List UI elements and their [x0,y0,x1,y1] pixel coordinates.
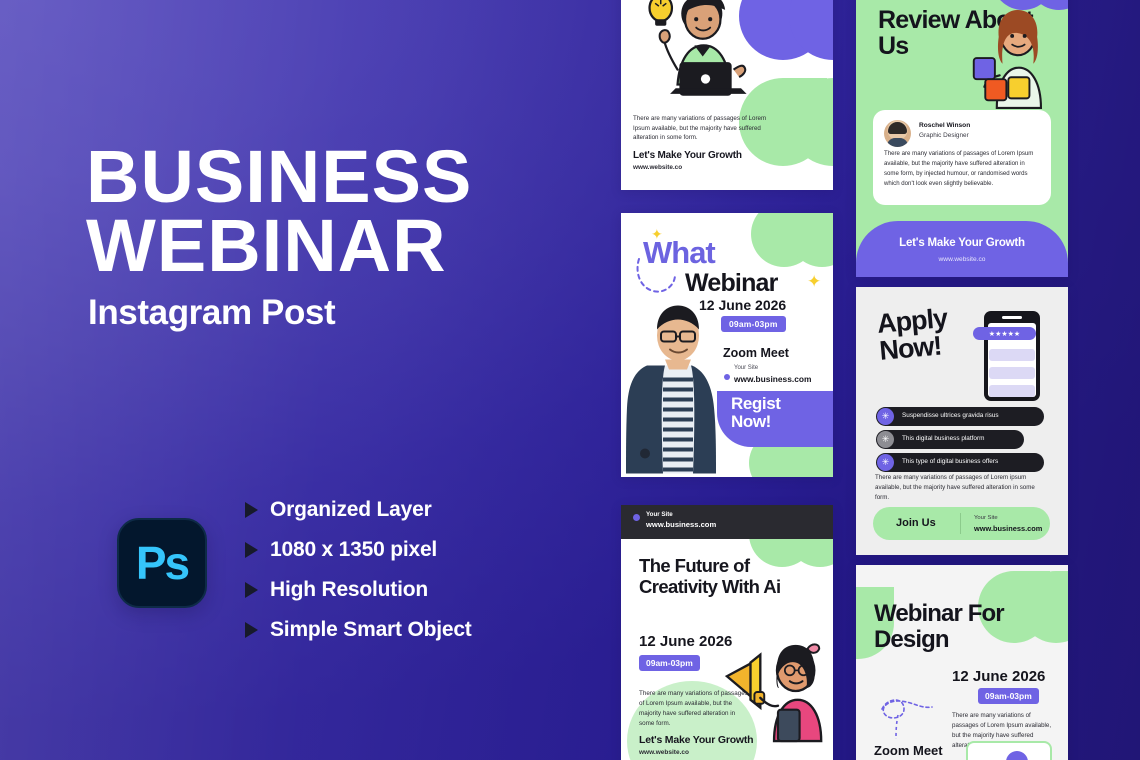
page-title: BUSINESS WEBINAR [86,143,472,281]
card-body-text: There are many variations of passages of… [875,473,1035,503]
card-future-creativity: Your Site www.business.com The Future of… [621,505,833,760]
card-webinar-for-design: Webinar For Design 12 June 2026 09am-03p… [856,565,1068,760]
card-url: www.website.co [639,749,689,756]
title-line-2: WEBINAR [86,212,472,281]
triangle-bullet-icon [245,622,258,638]
register-line-1: Regist [731,394,781,413]
card-cta-text: Let's Make Your Growth [639,734,753,746]
feature-label: Simple Smart Object [270,618,472,642]
phone-notch [1002,316,1022,319]
page-subtitle: Instagram Post [88,293,335,333]
triangle-bullet-icon [245,502,258,518]
card-review-about-us: Review About Us Roschel Winson Graphic D… [856,0,1068,277]
avatar-body [887,138,908,147]
list-item: Organized Layer [245,496,472,524]
bullet-pill: ✳ Suspendisse ultrices gravida risus [876,407,1044,426]
feature-list: Organized Layer 1080 x 1350 pixel High R… [245,496,472,656]
card-what-webinar: ✦ ✦ What Webinar 12 June 2026 09am-03pm … [621,213,833,477]
card-time-badge: 09am-03pm [978,688,1039,704]
triangle-bullet-icon [245,542,258,558]
form-field-placeholder [989,349,1035,361]
photo-presenter [625,301,735,476]
bullet-dot-icon [633,514,640,521]
register-button-label[interactable]: Regist Now! [731,395,831,431]
title-line-1: BUSINESS [86,143,472,212]
review-body-text: There are many variations of passages of… [884,149,1040,188]
card-site-label: Your Site [734,365,758,371]
star-rating-badge: ★★★★★ [973,327,1036,340]
asterisk-icon: ✳ [877,454,894,471]
illustration-man-with-idea [629,0,769,120]
bullet-pill: ✳ This digital business platform [876,430,1024,449]
avatar-hair [888,122,907,134]
card-cta-text: Let's Make Your Growth [633,150,742,161]
card-heading: Webinar For Design [874,601,1059,653]
card-body-text: There are many variations of passages of… [639,689,751,729]
card-url: www.website.co [633,164,682,171]
card-site-label: Your Site [974,515,998,521]
card-date: 12 June 2026 [639,633,732,650]
card-website: www.business.com [974,524,1042,533]
card-growth-idea: ✦ There are many variations of passages … [621,0,833,190]
form-field-placeholder [989,367,1035,379]
triangle-bullet-icon [245,582,258,598]
card-date: 12 June 2026 [952,668,1045,685]
card-time-badge: 09am-03pm [639,655,700,671]
feature-label: High Resolution [270,578,428,602]
feature-label: Organized Layer [270,498,432,522]
card-heading: Apply Now! [876,305,950,365]
left-info-panel: BUSINESS WEBINAR Instagram Post Ps Organ… [0,0,620,760]
asterisk-icon: ✳ [877,431,894,448]
sparkle-icon: ✦ [807,273,821,290]
card-footer-bar [856,221,1068,277]
feature-label: 1080 x 1350 pixel [270,538,437,562]
form-field-placeholder [989,385,1035,397]
footer-url: www.website.co [856,256,1068,263]
photoshop-icon: Ps [117,518,207,608]
bullet-pill: ✳ This type of digital business offers [876,453,1044,472]
topbar-website: www.business.com [646,520,716,529]
reviewer-role: Graphic Designer [919,132,969,139]
register-line-2: Now! [731,412,771,431]
bullet-label: Suspendisse ultrices gravida risus [902,412,999,419]
list-item: High Resolution [245,576,472,604]
card-title-top: What [643,235,715,271]
bullet-label: This type of digital business offers [902,458,998,465]
bullet-dot-icon [724,374,730,380]
list-item: 1080 x 1350 pixel [245,536,472,564]
list-item: Simple Smart Object [245,616,472,644]
card-heading: The Future of Creativity With Ai [639,555,819,598]
asterisk-icon: ✳ [877,408,894,425]
avatar [884,120,911,147]
topbar-site-label: Your Site [646,511,673,518]
join-us-label[interactable]: Join Us [896,517,936,529]
illustration-girl-puzzle [968,6,1064,112]
reviewer-name: Roschel Winson [919,122,970,129]
card-website: www.business.com [734,374,811,384]
dashed-path-icon [876,691,956,741]
card-platform: Zoom Meet [723,346,789,360]
card-title-bottom: Webinar [685,269,778,298]
card-apply-now: Apply Now! ★★★★★ ✳ Suspendisse ultrices … [856,287,1068,555]
card-platform: Zoom Meet [874,743,943,758]
divider [960,513,961,534]
footer-cta-text: Let's Make Your Growth [856,237,1068,249]
bullet-label: This digital business platform [902,435,984,442]
heading-line-2: Now! [878,331,942,366]
card-body-text: There are many variations of passages of… [633,114,773,143]
photoshop-icon-label: Ps [136,540,188,586]
